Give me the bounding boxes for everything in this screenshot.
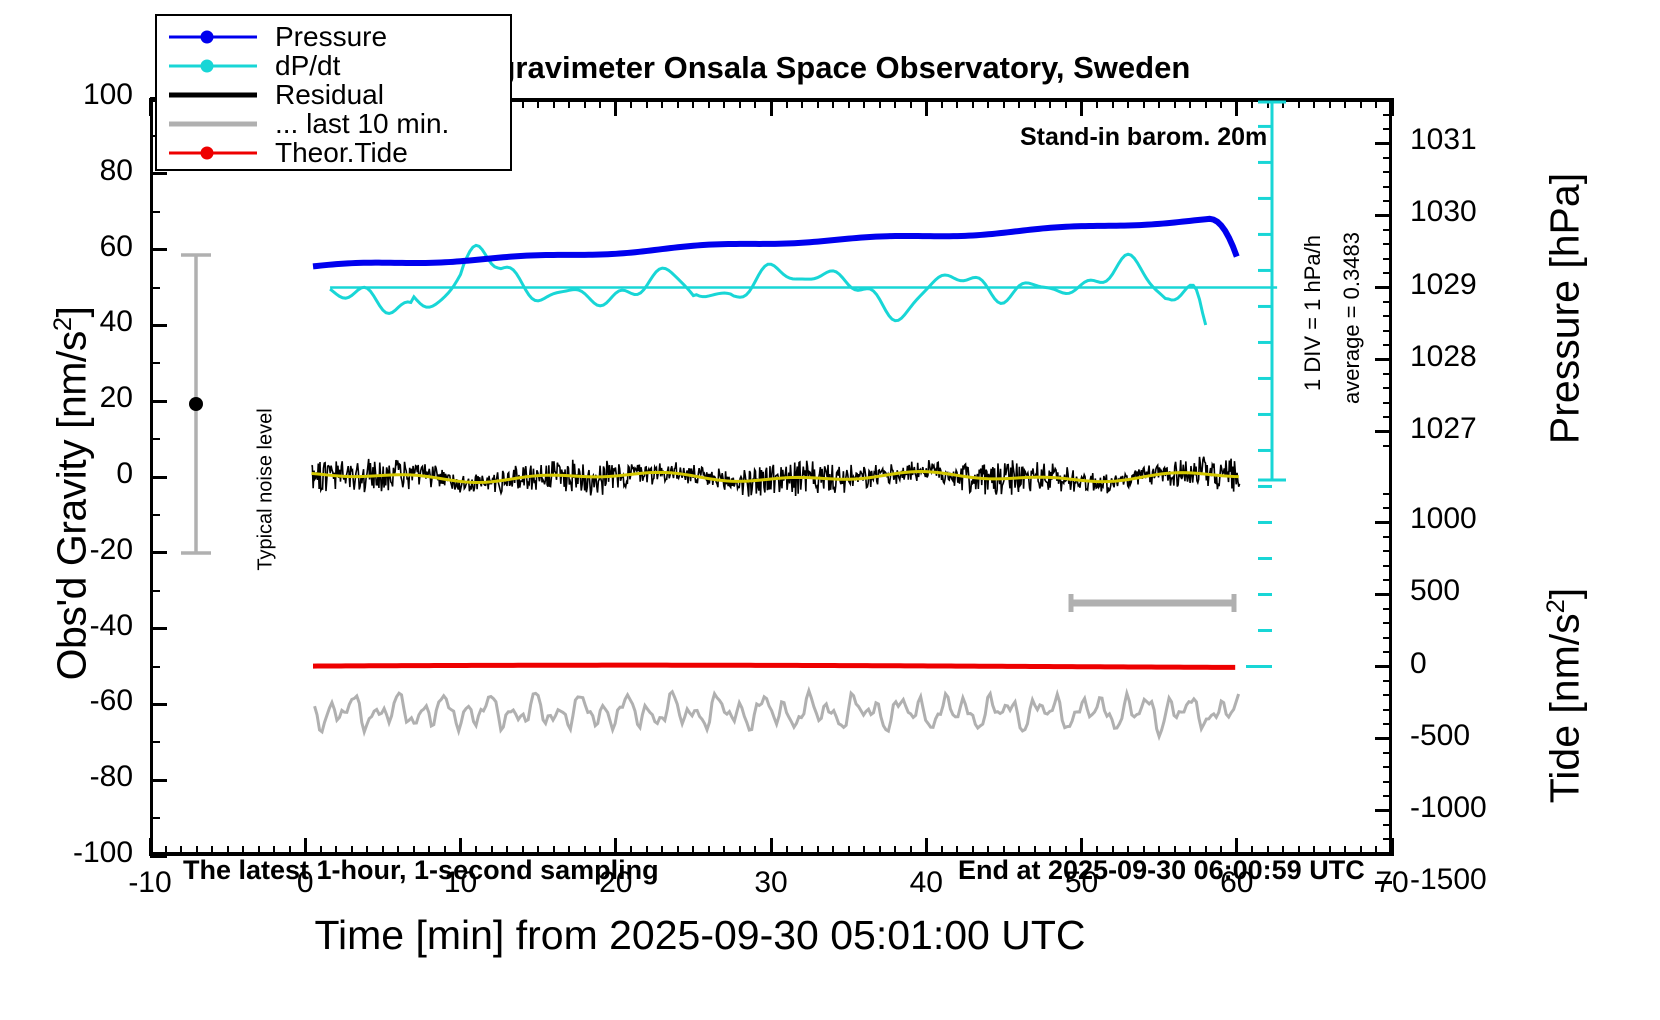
x-axis-title: Time [min] from 2025-09-30 05:01:00 UTC — [150, 912, 1250, 959]
y-tick-label: 100 — [5, 78, 133, 112]
y-tick-label: -100 — [5, 836, 133, 870]
tide-tick-major — [1375, 881, 1392, 884]
chart-root: Obs'd Gravity [nm/s2] Pressure [hPa] Tid… — [0, 0, 1660, 1020]
legend-item[interactable]: Theor.Tide — [157, 138, 510, 167]
tide-tick-label: -1000 — [1410, 791, 1487, 825]
legend-item[interactable]: dP/dt — [157, 51, 510, 80]
average-label: average = 0.3483 — [1339, 218, 1365, 418]
legend-item[interactable]: ... last 10 min. — [157, 109, 510, 138]
legend-label: Pressure — [257, 21, 387, 53]
tide-tick-label: 1000 — [1410, 502, 1477, 536]
pressure-tick-label: 1031 — [1410, 123, 1477, 157]
legend-swatch — [169, 114, 257, 134]
tide-tick-label: -500 — [1410, 719, 1470, 753]
y-tick-label: 80 — [5, 154, 133, 188]
end-time-note: End at 2025-09-30 06:00:59 UTC — [958, 855, 1365, 886]
tide-tick-label: -1500 — [1410, 863, 1487, 897]
legend-swatch — [169, 56, 257, 76]
legend: PressuredP/dtResidual... last 10 min.The… — [155, 14, 512, 171]
legend-marker-dot — [201, 146, 214, 159]
standin-barometer-note: Stand-in barom. 20m — [1020, 123, 1267, 152]
legend-marker-dot — [201, 59, 214, 72]
pressure-tick-label: 1029 — [1410, 268, 1477, 302]
legend-line — [169, 121, 257, 126]
legend-marker-dot — [201, 30, 214, 43]
legend-swatch — [169, 143, 257, 163]
div-scale-label: 1 DIV = 1 hPa/h — [1300, 213, 1326, 413]
y-axis-right-pressure-title: Pressure [hPa] — [1542, 69, 1589, 549]
legend-label: Residual — [257, 79, 384, 111]
pressure-tick-label: 1027 — [1410, 412, 1477, 446]
x-tick-label: 30 — [711, 866, 831, 900]
legend-line — [169, 92, 257, 97]
dpdt-scale-bar-ticks — [150, 98, 1392, 856]
pressure-tick-label: 1030 — [1410, 195, 1477, 229]
legend-swatch — [169, 85, 257, 105]
y-axis-right-tide-title: Tide [nm/s2] — [1542, 486, 1589, 906]
typical-noise-level-label: Typical noise level — [255, 390, 278, 590]
pressure-tick-label: 1028 — [1410, 340, 1477, 374]
legend-item[interactable]: Residual — [157, 80, 510, 109]
tide-tick-label: 0 — [1410, 647, 1427, 681]
legend-label: ... last 10 min. — [257, 108, 449, 140]
y-axis-left-title: Obs'd Gravity [nm/s2] — [49, 194, 96, 794]
legend-label: Theor.Tide — [257, 137, 408, 169]
legend-swatch — [169, 27, 257, 47]
legend-label: dP/dt — [257, 50, 340, 82]
sampling-note: The latest 1-hour, 1-second sampling — [183, 855, 659, 886]
tide-tick-label: 500 — [1410, 574, 1460, 608]
legend-item[interactable]: Pressure — [157, 22, 510, 51]
